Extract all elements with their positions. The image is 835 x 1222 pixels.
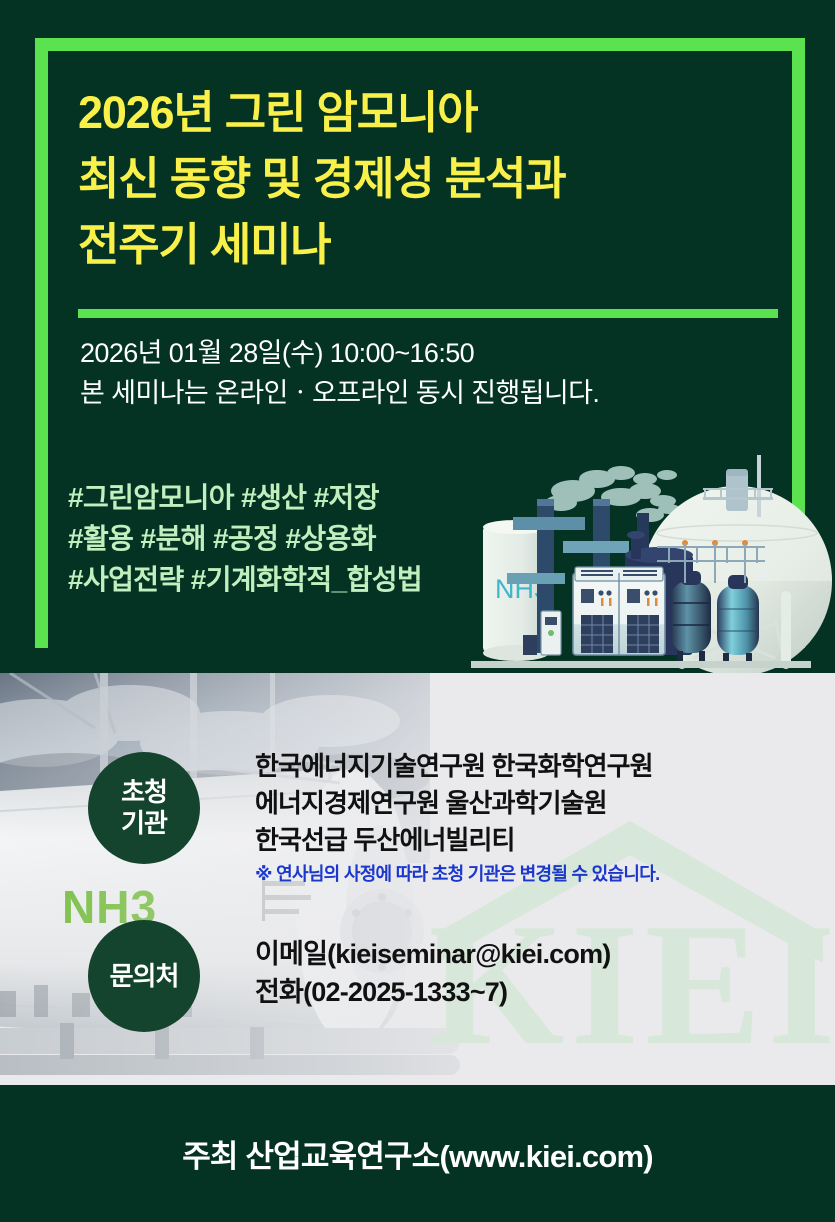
contact-email[interactable]: 이메일(kieiseminar@kiei.com): [255, 935, 815, 973]
schedule-block: 2026년 01월 28일(수) 10:00~16:50 본 세미나는 온라인ㆍ…: [80, 333, 760, 413]
title-line-3: 전주기 세미나: [78, 212, 738, 278]
title-divider: [78, 309, 778, 318]
institution-line-3: 한국선급 두산에너빌리티: [255, 822, 815, 859]
invited-institutions-list: 한국에너지기술연구원 한국화학연구원 에너지경제연구원 울산과학기술원 한국선급…: [255, 748, 815, 887]
badge-invited-line-1: 초청: [121, 777, 167, 808]
institution-change-note: ※ 연사님의 사정에 따라 초청 기관은 변경될 수 있습니다.: [255, 861, 815, 887]
institution-line-2: 에너지경제연구원 울산과학기술원: [255, 785, 815, 822]
schedule-mode: 본 세미나는 온라인ㆍ오프라인 동시 진행됩니다.: [80, 373, 760, 413]
title-line-2: 최신 동향 및 경제성 분석과: [78, 146, 738, 212]
contact-phone[interactable]: 전화(02-2025-1333~7): [255, 973, 815, 1011]
badge-invited-line-2: 기관: [121, 808, 167, 839]
smoke-group: [545, 466, 680, 522]
control-cabinet: [573, 567, 665, 655]
badge-contact-line-1: 문의처: [110, 961, 179, 992]
ammonia-plant-illustration: NH3: [445, 443, 835, 673]
institution-line-1: 한국에너지기술연구원 한국화학연구원: [255, 748, 815, 785]
seminar-poster: 2026년 그린 암모니아 최신 동향 및 경제성 분석과 전주기 세미나 20…: [0, 0, 835, 1222]
page-title: 2026년 그린 암모니아 최신 동향 및 경제성 분석과 전주기 세미나: [78, 80, 738, 278]
footer-bar: 주최 산업교육연구소(www.kiei.com): [0, 1085, 835, 1222]
top-panel: 2026년 그린 암모니아 최신 동향 및 경제성 분석과 전주기 세미나 20…: [0, 0, 835, 673]
organizer-label[interactable]: 주최 산업교육연구소(www.kiei.com): [182, 1131, 653, 1176]
badge-contact: 문의처: [88, 920, 200, 1032]
badge-invited-institutions: 초청 기관: [88, 752, 200, 864]
contact-details: 이메일(kieiseminar@kiei.com) 전화(02-2025-133…: [255, 935, 815, 1011]
schedule-datetime: 2026년 01월 28일(수) 10:00~16:50: [80, 333, 760, 373]
title-line-1: 2026년 그린 암모니아: [78, 80, 738, 146]
